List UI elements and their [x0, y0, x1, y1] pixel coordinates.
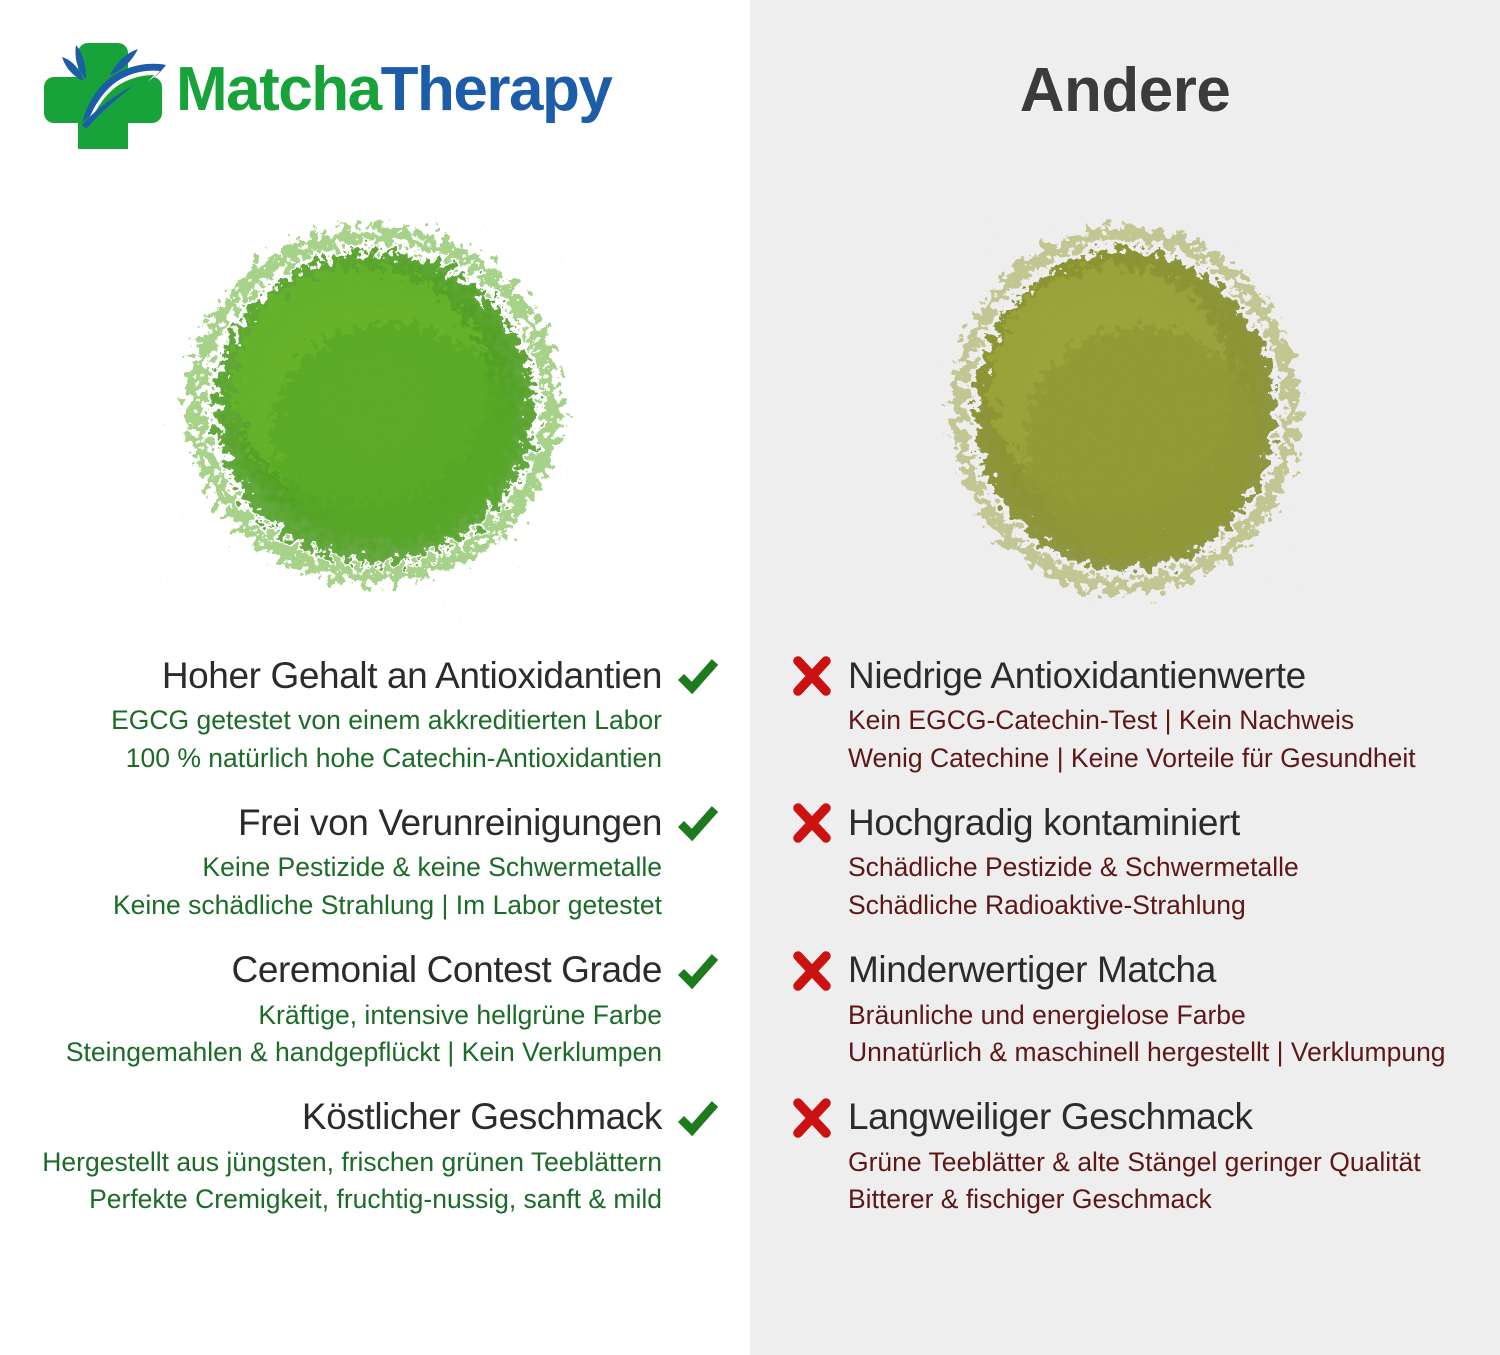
- benefit-line: Hergestellt aus jüngsten, frischen grüne…: [14, 1144, 662, 1182]
- comparison-infographic: MatchaTherapy: [0, 0, 1500, 1355]
- benefit-item: Hoher Gehalt an Antioxidantien EGCG gete…: [14, 654, 720, 777]
- benefit-line: Keine schädliche Strahlung | Im Labor ge…: [14, 887, 662, 925]
- red-x-icon: [790, 949, 834, 993]
- green-check-icon: [676, 949, 720, 993]
- column-matcha-therapy: MatchaTherapy: [0, 0, 750, 1355]
- benefit-line: Steingemahlen & handgepflückt | Kein Ver…: [14, 1034, 662, 1072]
- drawback-title: Langweiliger Geschmack: [848, 1096, 1253, 1139]
- bright-green-powder-icon: [160, 195, 590, 625]
- drawback-line: Unnatürlich & maschinell hergestellt | V…: [848, 1034, 1486, 1072]
- others-powder-image: [750, 180, 1500, 640]
- drawback-line: Wenig Catechine | Keine Vorteile für Ges…: [848, 740, 1486, 778]
- benefit-item: Ceremonial Contest Grade Kräftige, inten…: [14, 949, 720, 1072]
- logo-word-therapy: Therapy: [381, 55, 612, 124]
- drawback-item: Hochgradig kontaminiert Schädliche Pesti…: [790, 801, 1486, 924]
- dull-olive-powder-icon: [935, 210, 1315, 610]
- others-title: Andere: [1020, 55, 1231, 126]
- column-others: Andere: [750, 0, 1500, 1355]
- benefit-line: Perfekte Cremigkeit, fruchtig-nussig, sa…: [14, 1181, 662, 1219]
- drawback-title: Minderwertiger Matcha: [848, 949, 1216, 992]
- benefit-line: Keine Pestizide & keine Schwermetalle: [14, 849, 662, 887]
- drawbacks-list: Niedrige Antioxidantienwerte Kein EGCG-C…: [750, 640, 1500, 1219]
- logo-wordmark: MatchaTherapy: [176, 59, 611, 121]
- red-x-icon: [790, 654, 834, 698]
- benefit-line: Kräftige, intensive hellgrüne Farbe: [14, 997, 662, 1035]
- drawback-line: Schädliche Pestizide & Schwermetalle: [848, 849, 1486, 887]
- green-check-icon: [676, 654, 720, 698]
- drawback-title: Hochgradig kontaminiert: [848, 802, 1240, 845]
- logo-word-matcha: Matcha: [176, 55, 381, 124]
- drawback-line: Grüne Teeblätter & alte Stängel geringer…: [848, 1144, 1486, 1182]
- matcha-therapy-powder-image: [0, 180, 750, 640]
- green-check-icon: [676, 801, 720, 845]
- drawback-line: Bräunliche und energielose Farbe: [848, 997, 1486, 1035]
- benefit-title: Hoher Gehalt an Antioxidantien: [162, 655, 662, 698]
- green-check-icon: [676, 1096, 720, 1140]
- red-x-icon: [790, 1096, 834, 1140]
- drawback-item: Niedrige Antioxidantienwerte Kein EGCG-C…: [790, 654, 1486, 777]
- brand-logo: MatchaTherapy: [0, 0, 750, 180]
- benefit-line: EGCG getestet von einem akkreditierten L…: [14, 702, 662, 740]
- drawback-item: Langweiliger Geschmack Grüne Teeblätter …: [790, 1096, 1486, 1219]
- benefits-list: Hoher Gehalt an Antioxidantien EGCG gete…: [0, 640, 750, 1219]
- benefit-item: Köstlicher Geschmack Hergestellt aus jün…: [14, 1096, 720, 1219]
- benefit-item: Frei von Verunreinigungen Keine Pestizid…: [14, 801, 720, 924]
- drawback-line: Bitterer & fischiger Geschmack: [848, 1181, 1486, 1219]
- benefit-title: Frei von Verunreinigungen: [238, 802, 662, 845]
- medical-cross-leaf-logo-icon: [42, 31, 170, 149]
- benefit-line: 100 % natürlich hohe Catechin-Antioxidan…: [14, 740, 662, 778]
- benefit-title: Ceremonial Contest Grade: [232, 949, 663, 992]
- red-x-icon: [790, 801, 834, 845]
- others-header: Andere: [750, 0, 1500, 180]
- drawback-title: Niedrige Antioxidantienwerte: [848, 655, 1306, 698]
- drawback-line: Kein EGCG-Catechin-Test | Kein Nachweis: [848, 702, 1486, 740]
- drawback-line: Schädliche Radioaktive-Strahlung: [848, 887, 1486, 925]
- drawback-item: Minderwertiger Matcha Bräunliche und ene…: [790, 949, 1486, 1072]
- benefit-title: Köstlicher Geschmack: [302, 1096, 662, 1139]
